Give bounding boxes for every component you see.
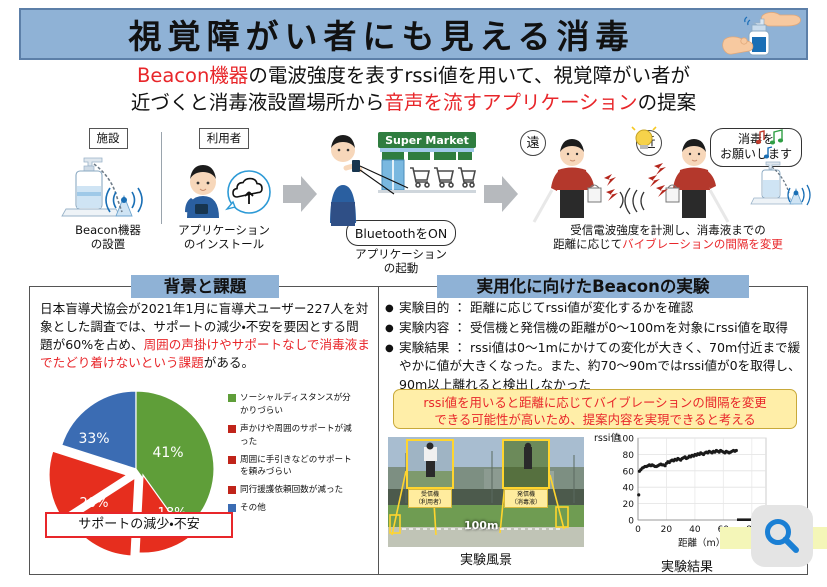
bullet-item-content: ● 実験内容 ： 受信機と発信機の距離が0〜100mを対象にrssi値を取得 xyxy=(385,319,803,338)
bullet-item-purpose: ● 実験目的 ： 距離に応じてrssi値が変化するかを確認 xyxy=(385,299,803,318)
bullet-text: 実験結果 ： rssi値は0〜1mにかけての変化が大きく、70m付近まで緩やかに… xyxy=(399,339,803,394)
beacon-experiment-header: 実用化に向けたBeaconの実験 xyxy=(437,275,749,298)
flow-arrow-1-icon xyxy=(283,174,317,214)
svg-text:40: 40 xyxy=(623,484,635,494)
svg-text:20: 20 xyxy=(661,525,673,535)
hand-sanitizer-spray-icon xyxy=(710,10,806,58)
legend-item: その他 xyxy=(228,502,368,515)
subtitle-accent-2: 音声を流すアプリケーション xyxy=(384,91,637,114)
background-issues-header: 背景と課題 xyxy=(131,275,279,298)
flow-caption-facility: Beacon機器 の設置 xyxy=(54,224,162,251)
person-download-app-icon xyxy=(169,152,279,224)
legend-item: ソーシャルディスタンスが分かりづらい xyxy=(228,392,368,418)
subtitle-text-2: 近づくと消毒液設置場所から xyxy=(131,91,385,114)
bullet-dot-icon: ● xyxy=(385,299,399,318)
bullet-dot-icon: ● xyxy=(385,319,399,338)
search-badge[interactable] xyxy=(751,505,813,567)
svg-text:20: 20 xyxy=(623,500,635,510)
svg-text:Super Market: Super Market xyxy=(385,134,469,147)
legend-item: 周囲に手引きなどのサポートを頼みづらい xyxy=(228,454,368,480)
photo-label-transmitter: 発信機 （消毒液） xyxy=(504,489,548,508)
experiment-bullets: ● 実験目的 ： 距離に応じてrssi値が変化するかを確認 ● 実験内容 ： 受… xyxy=(385,299,803,395)
legend-swatch-icon xyxy=(228,456,236,464)
scatter-caption: 実験結果 xyxy=(622,556,752,575)
subtitle-text-1: の電波強度を表すrssi値を用いて、視覚障がい者が xyxy=(248,64,690,87)
highlight-line-1: rssi値を用いると距離に応じてバイブレーションの間隔を変更 xyxy=(398,394,792,411)
bullet-text: 実験目的 ： 距離に応じてrssi値が変化するかを確認 xyxy=(399,299,693,318)
legend-label: ソーシャルディスタンスが分かりづらい xyxy=(240,392,358,418)
flow-arrow-2-icon xyxy=(484,174,518,214)
support-issues-pie-chart: 41% 33% 18% 22% 20% xyxy=(38,381,234,567)
svg-text:0: 0 xyxy=(628,517,634,527)
legend-item: 同行援護依頼回数が減った xyxy=(228,484,368,497)
photo-distance-label: 100m xyxy=(464,519,498,532)
poster-title-bar: 視覚障がい者にも見える消毒 xyxy=(19,8,808,60)
flow-caption-vibration: 受信電波強度を計測し、消毒液までの 距離に応じてバイブレーションの間隔を変更 xyxy=(518,224,818,251)
process-flow-diagram: 施設 xyxy=(6,126,821,258)
flow-step-vibration: 遠 近 消毒を お願いします xyxy=(518,126,818,251)
flow-step-app-launch: Super Market xyxy=(316,128,486,275)
search-icon xyxy=(762,516,802,556)
legend-swatch-icon xyxy=(228,425,236,433)
legend-swatch-icon xyxy=(228,394,236,402)
background-issues-body: 日本盲導犬協会が2021年1月に盲導犬ユーザー227人を対象とした調査では、サポ… xyxy=(40,300,370,373)
photo-inset-transmitter xyxy=(502,439,550,489)
legend-swatch-icon xyxy=(228,486,236,494)
page-title: 視覚障がい者にも見える消毒 xyxy=(21,10,710,58)
blind-person-with-cane-icon xyxy=(518,126,818,226)
scatter-xlabel: 距離（m） xyxy=(678,535,725,549)
legend-item: 声かけや周囲のサポートが減った xyxy=(228,423,368,449)
pie-legend: ソーシャルディスタンスが分かりづらい 声かけや周囲のサポートが減った 周囲に手引… xyxy=(228,392,368,520)
poster-subtitle: Beacon機器の電波強度を表すrssi値を用いて、視覚障がい者が 近づくと消毒… xyxy=(19,63,808,117)
flow-step-facility: 施設 xyxy=(54,128,162,251)
flow-caption-install: アプリケーション のインストール xyxy=(169,224,279,251)
background-body-c: がある。 xyxy=(204,355,254,370)
legend-label: 同行援護依頼回数が減った xyxy=(240,484,343,497)
subtitle-text-3: の提案 xyxy=(638,91,697,114)
svg-text:41%: 41% xyxy=(152,445,183,461)
svg-text:20%: 20% xyxy=(80,496,109,511)
experiment-scene-photo: 受信機 （利用者） 発信機 （消毒液） 100m xyxy=(388,437,584,547)
sanitizer-with-beacon-icon xyxy=(54,152,162,224)
flow-step-user-install: 利用者 xyxy=(169,128,279,251)
photo-label-receiver: 受信機 （利用者） xyxy=(408,489,452,508)
svg-text:0: 0 xyxy=(635,525,641,535)
subtitle-accent-1: Beacon機器 xyxy=(137,64,248,87)
experiment-scene-caption: 実験風景 xyxy=(388,549,584,568)
svg-text:60: 60 xyxy=(623,467,635,477)
poster-root: 視覚障がい者にも見える消毒 Beacon機器の電波強度を表すrssi値を用いて、… xyxy=(0,0,827,587)
legend-label: その他 xyxy=(240,502,266,515)
conclusion-highlight-box: rssi値を用いると距離に応じてバイブレーションの間隔を変更 できる可能性が高い… xyxy=(393,389,797,429)
photo-inset-receiver xyxy=(406,439,454,489)
legend-label: 声かけや周囲のサポートが減った xyxy=(240,423,358,449)
bullet-dot-icon: ● xyxy=(385,339,399,394)
svg-text:33%: 33% xyxy=(78,431,109,447)
svg-text:40: 40 xyxy=(689,525,701,535)
flow-caption-launch: アプリケーション の起動 xyxy=(316,248,486,275)
bullet-item-result: ● 実験結果 ： rssi値は0〜1mにかけての変化が大きく、70m付近まで緩や… xyxy=(385,339,803,394)
svg-text:80: 80 xyxy=(623,451,635,461)
person-at-supermarket-icon: Super Market xyxy=(316,128,486,226)
scatter-ylabel: rssi値 xyxy=(594,430,620,444)
legend-label: 周囲に手引きなどのサポートを頼みづらい xyxy=(240,454,358,480)
pie-callout-box: サポートの減少・不安 xyxy=(45,512,233,538)
bullet-text: 実験内容 ： 受信機と発信機の距離が0〜100mを対象にrssi値を取得 xyxy=(399,319,788,338)
flow-tag-user: 利用者 xyxy=(199,128,250,149)
flow-caption-vibration-b: バイブレーションの間隔を変更 xyxy=(622,237,783,251)
flow-tag-facility: 施設 xyxy=(89,128,128,149)
highlight-line-2: できる可能性が高いため、提案内容を実現できると考える xyxy=(398,411,792,428)
